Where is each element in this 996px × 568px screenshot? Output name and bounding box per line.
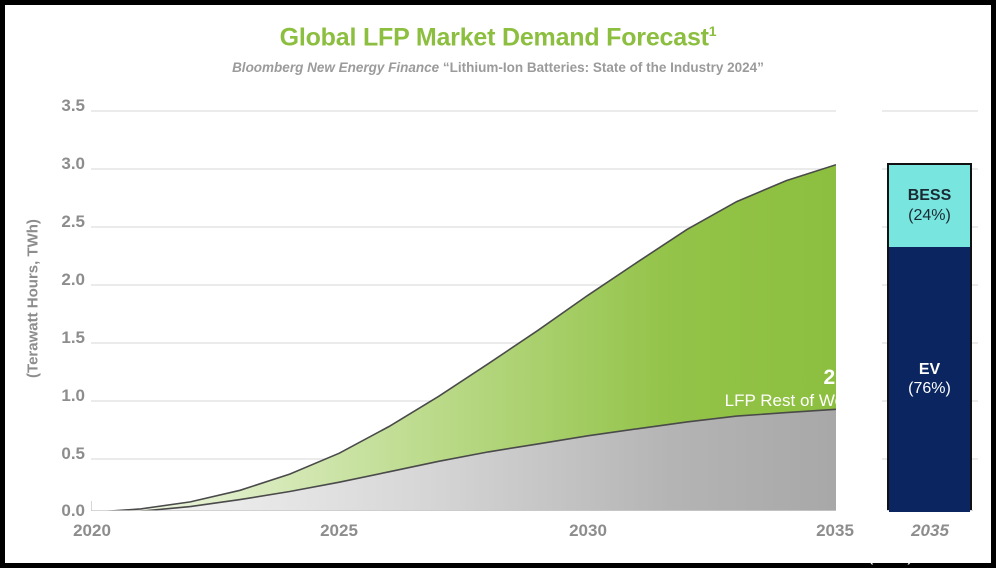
y-tick-2-0: 2.0	[39, 270, 85, 290]
bess-percent: (24%)	[908, 206, 951, 225]
ev-percent: (76%)	[908, 379, 951, 398]
area-chart-svg	[91, 105, 836, 511]
y-tick-3-0: 3.0	[39, 154, 85, 174]
title-text: Global LFP Market Demand Forecast	[280, 23, 709, 51]
side-bar-panel: BESS (24%) EV (76%)	[854, 105, 991, 511]
y-axis-ticks: 3.5 3.0 2.5 2.0 1.5 1.0 0.5 0.0	[37, 105, 85, 511]
x-tick-bar-2035: 2035	[885, 521, 975, 541]
subtitle-document: “Lithium-Ion Batteries: State of the Ind…	[443, 60, 764, 75]
plot-area: 2.109 TWh LFP Rest of World (69%) 0.928 …	[91, 105, 836, 511]
title-footnote-marker: 1	[709, 23, 717, 39]
x-tick-2020: 2020	[47, 521, 137, 541]
y-tick-0-0: 0.0	[39, 501, 85, 521]
bess-label: BESS	[908, 187, 952, 205]
bar-segment-ev: EV (76%)	[889, 247, 970, 512]
subtitle-source: Bloomberg New Energy Finance	[232, 60, 439, 75]
y-tick-0-5: 0.5	[39, 444, 85, 464]
y-tick-3-5: 3.5	[39, 96, 85, 116]
bar-segment-bess: BESS (24%)	[889, 165, 970, 247]
x-tick-2030: 2030	[543, 521, 633, 541]
y-tick-1-5: 1.5	[39, 328, 85, 348]
y-tick-2-5: 2.5	[39, 212, 85, 232]
x-tick-2025: 2025	[294, 521, 384, 541]
x-tick-2035: 2035	[790, 521, 880, 541]
y-tick-1-0: 1.0	[39, 386, 85, 406]
stacked-bar-2035: BESS (24%) EV (76%)	[887, 163, 972, 510]
page-title: Global LFP Market Demand Forecast1	[5, 23, 991, 52]
chart-subtitle: Bloomberg New Energy Finance “Lithium-Io…	[5, 60, 991, 75]
chart-canvas: Global LFP Market Demand Forecast1 Bloom…	[0, 0, 996, 568]
china-name: LFP China (31%)	[591, 546, 913, 566]
ev-label: EV	[919, 361, 940, 379]
